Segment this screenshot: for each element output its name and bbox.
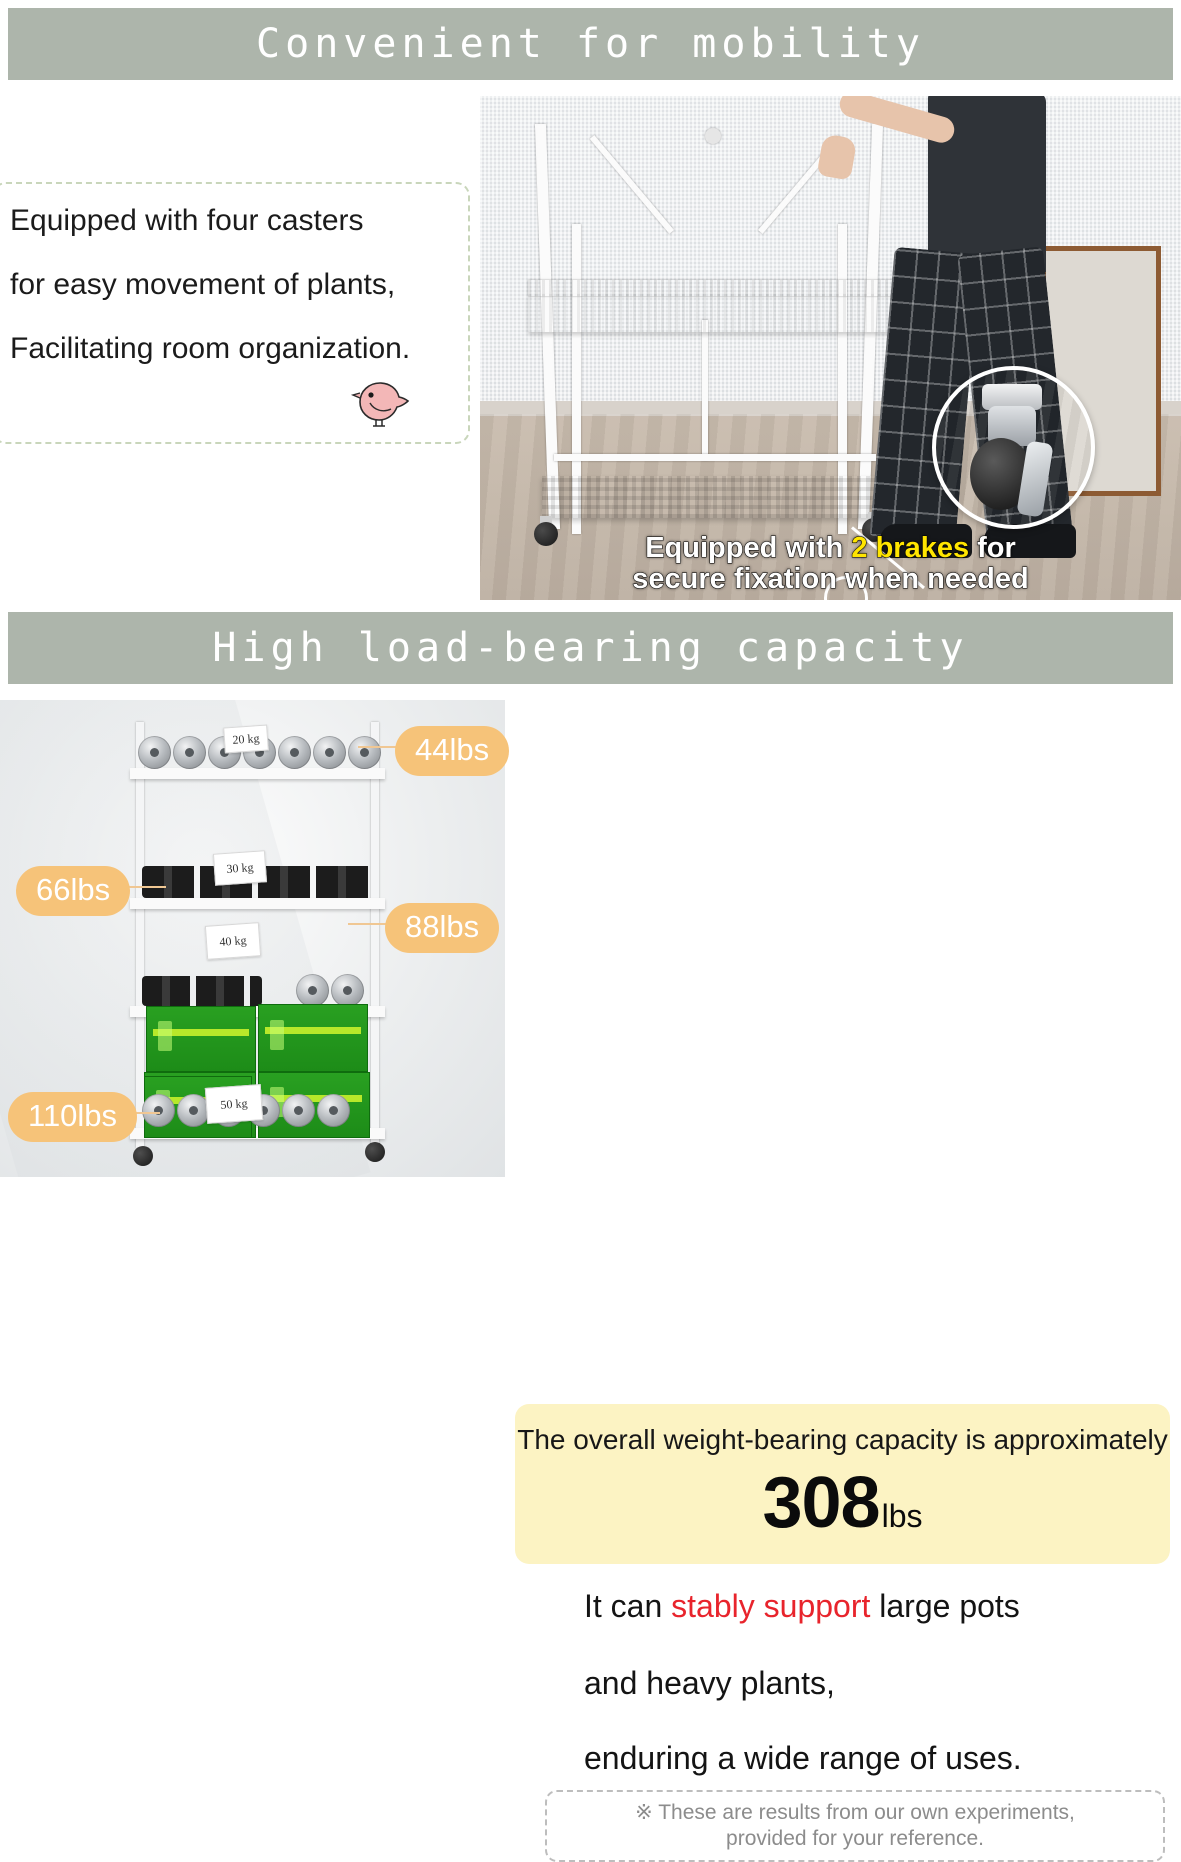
capacity-lead-text: The overall weight-bearing capacity is a…: [517, 1424, 1168, 1456]
caption-suffix: for: [969, 532, 1016, 564]
disclaimer-box: ※ These are results from our own experim…: [545, 1790, 1165, 1862]
banner-title-mobility: Convenient for mobility: [256, 21, 925, 67]
rack-caster-right: [364, 1138, 386, 1162]
kg-tag-2: 30 kg: [213, 850, 267, 886]
capacity-value-row: 308 lbs: [762, 1462, 922, 1544]
callout-line-3: Facilitating room organization.: [10, 334, 448, 364]
load-capacity-block: 20 kg 30 kg 40 kg 50 kg The overall weig…: [0, 700, 1181, 1177]
kg-tag-3: 40 kg: [205, 922, 261, 960]
bird-icon: [350, 376, 410, 428]
badge-44lbs: 44lbs: [395, 726, 509, 776]
disclaimer-line-2: provided for your reference.: [726, 1826, 984, 1852]
photo-caption-brakes: Equipped with 2 brakes for secure fixati…: [480, 533, 1181, 594]
badge-leader-88: [348, 923, 388, 925]
section-banner-load: High load-bearing capacity: [8, 612, 1173, 684]
body-line-1-prefix: It can: [584, 1588, 671, 1624]
badge-leader-66: [124, 886, 166, 888]
section-banner-mobility: Convenient for mobility: [8, 8, 1173, 80]
banner-title-load: High load-bearing capacity: [212, 625, 968, 671]
disclaimer-line-1: ※ These are results from our own experim…: [635, 1800, 1075, 1826]
callout-line-2: for easy movement of plants,: [10, 270, 448, 300]
kg-tag-4: 50 kg: [205, 1084, 263, 1124]
rack-leg-left: [136, 722, 144, 1148]
cart-brace-vertical: [702, 320, 708, 460]
rack-caster-left: [132, 1142, 154, 1166]
capacity-panel: The overall weight-bearing capacity is a…: [515, 1404, 1170, 1564]
photo-cart-mobility: Equipped with 2 brakes for secure fixati…: [480, 96, 1181, 600]
green-case-2: [258, 1004, 368, 1072]
green-case-1: [146, 1006, 256, 1072]
body-line-1-highlight: stably support: [671, 1588, 870, 1624]
capacity-number: 308: [762, 1462, 879, 1544]
badge-66lbs: 66lbs: [16, 866, 130, 916]
rack-shelf-2: [130, 898, 385, 909]
capacity-unit: lbs: [882, 1498, 923, 1535]
body-line-2: and heavy plants,: [584, 1665, 835, 1702]
kg-tag-1: 20 kg: [223, 724, 269, 753]
badge-110lbs: 110lbs: [8, 1092, 137, 1142]
mobility-callout-box: Equipped with four casters for easy move…: [0, 182, 470, 444]
caption-line-2: secure fixation when needed: [632, 563, 1028, 595]
body-line-1: It can stably support large pots: [584, 1588, 1020, 1625]
badge-leader-44: [358, 746, 398, 748]
rack-leg-right: [371, 722, 379, 1148]
cart-brace-left: [590, 135, 674, 234]
dumbbells-shelf-3: [142, 976, 262, 1006]
rack-shelf-1: [130, 768, 385, 779]
body-line-1-suffix: large pots: [870, 1588, 1019, 1624]
callout-line-1: Equipped with four casters: [10, 206, 448, 236]
caster-zoom-inset: [932, 366, 1095, 529]
caption-prefix: Equipped with: [645, 532, 851, 564]
mobility-feature-block: Equipped with four casters for easy move…: [0, 96, 1181, 600]
rack-illustration: 20 kg 30 kg 40 kg 50 kg: [128, 718, 388, 1158]
weight-plates-middle: [296, 974, 364, 1007]
body-line-3: enduring a wide range of uses.: [584, 1740, 1022, 1777]
badge-88lbs: 88lbs: [385, 903, 499, 953]
caption-highlight: 2 brakes: [851, 532, 969, 564]
cart-brace-hub: [705, 128, 721, 144]
